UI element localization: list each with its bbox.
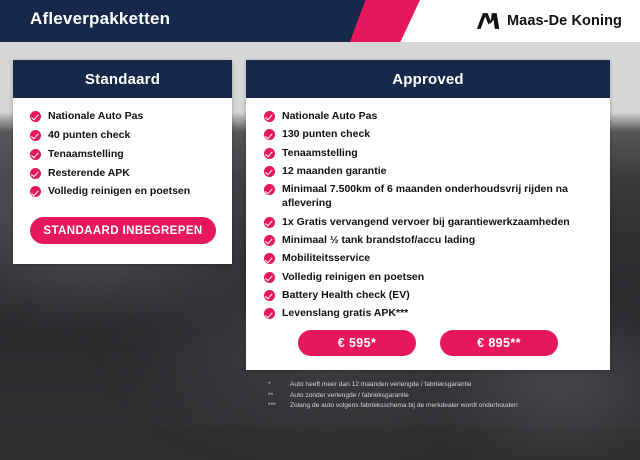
check-circle-icon <box>264 111 275 122</box>
feature-label: 12 maanden garantie <box>282 165 386 179</box>
brand-name: Maas-De Koning <box>507 13 622 29</box>
feature-label: Volledig reinigen en poetsen <box>282 271 424 285</box>
feature-label: Resterende APK <box>48 167 130 181</box>
feature-label: Nationale Auto Pas <box>48 110 143 124</box>
feature-label: 130 punten check <box>282 128 370 142</box>
page-title: Afleverpakketten <box>30 9 170 29</box>
footnote-text: Auto zonder verlengde / fabrieksgarantie <box>290 391 628 402</box>
standaard-inbegrepen-button[interactable]: STANDAARD INBEGREPEN <box>30 217 216 244</box>
check-circle-icon <box>30 186 41 197</box>
price-button-row: € 595* € 895** <box>246 330 610 356</box>
footnote-marker: ** <box>268 391 290 402</box>
check-circle-icon <box>264 290 275 301</box>
feature-label: Battery Health check (EV) <box>282 289 410 303</box>
check-circle-icon <box>30 111 41 122</box>
feature-label: 1x Gratis vervangend vervoer bij garanti… <box>282 216 570 230</box>
list-item: Mobiliteitsservice <box>246 252 610 266</box>
check-circle-icon <box>264 217 275 228</box>
footnote-row: *** Zolang de auto volgens fabrieksschem… <box>268 401 628 412</box>
check-circle-icon <box>264 166 275 177</box>
maas-de-koning-m-logo-icon <box>476 12 500 30</box>
check-circle-icon <box>264 272 275 283</box>
feature-label: Mobiliteitsservice <box>282 252 370 266</box>
feature-label: Levenslang gratis APK*** <box>282 307 408 321</box>
feature-label: Minimaal 7.500km of 6 maanden onderhouds… <box>282 183 610 211</box>
footnote-row: * Auto heeft meer dan 12 maanden verleng… <box>268 380 628 391</box>
list-item: Levenslang gratis APK*** <box>246 307 610 321</box>
footnote-row: ** Auto zonder verlengde / fabrieksgaran… <box>268 391 628 402</box>
footnotes: * Auto heeft meer dan 12 maanden verleng… <box>268 380 628 412</box>
footnote-marker: *** <box>268 401 290 412</box>
feature-label: Tenaamstelling <box>282 147 358 161</box>
list-item: Minimaal ½ tank brandstof/accu lading <box>246 234 610 248</box>
footnote-text: Zolang de auto volgens fabrieksschema bi… <box>290 401 628 412</box>
check-circle-icon <box>264 148 275 159</box>
list-item: Resterende APK <box>13 167 232 181</box>
check-circle-icon <box>264 253 275 264</box>
check-circle-icon <box>264 308 275 319</box>
check-circle-icon <box>264 235 275 246</box>
list-item: 1x Gratis vervangend vervoer bij garanti… <box>246 216 610 230</box>
check-circle-icon <box>30 130 41 141</box>
feature-list-approved: Nationale Auto Pas 130 punten check Tena… <box>246 98 610 321</box>
list-item: Volledig reinigen en poetsen <box>246 271 610 285</box>
list-item: Tenaamstelling <box>13 148 232 162</box>
feature-label: 40 punten check <box>48 129 130 143</box>
footnote-marker: * <box>268 380 290 391</box>
card-title-approved: Approved <box>246 60 610 98</box>
feature-label: Nationale Auto Pas <box>282 110 377 124</box>
list-item: Battery Health check (EV) <box>246 289 610 303</box>
list-item: Nationale Auto Pas <box>246 110 610 124</box>
price-button-895[interactable]: € 895** <box>440 330 558 356</box>
check-circle-icon <box>30 168 41 179</box>
feature-label: Tenaamstelling <box>48 148 124 162</box>
footnote-text: Auto heeft meer dan 12 maanden verlengde… <box>290 380 628 391</box>
list-item: Tenaamstelling <box>246 147 610 161</box>
list-item: 12 maanden garantie <box>246 165 610 179</box>
list-item: Volledig reinigen en poetsen <box>13 185 232 199</box>
price-button-595[interactable]: € 595* <box>298 330 416 356</box>
check-circle-icon <box>30 149 41 160</box>
check-circle-icon <box>264 184 275 195</box>
list-item: Minimaal 7.500km of 6 maanden onderhouds… <box>246 183 610 211</box>
feature-list-standaard: Nationale Auto Pas 40 punten check Tenaa… <box>13 98 232 199</box>
card-title-standaard: Standaard <box>13 60 232 98</box>
package-card-standaard: Standaard Nationale Auto Pas 40 punten c… <box>13 60 232 264</box>
brand-lockup: Maas-De Koning <box>476 0 622 42</box>
feature-label: Minimaal ½ tank brandstof/accu lading <box>282 234 475 248</box>
list-item: 130 punten check <box>246 128 610 142</box>
feature-label: Volledig reinigen en poetsen <box>48 185 190 199</box>
page-header: Afleverpakketten Maas-De Koning <box>0 0 640 42</box>
check-circle-icon <box>264 129 275 140</box>
list-item: 40 punten check <box>13 129 232 143</box>
list-item: Nationale Auto Pas <box>13 110 232 124</box>
package-card-approved: Approved Nationale Auto Pas 130 punten c… <box>246 60 610 370</box>
